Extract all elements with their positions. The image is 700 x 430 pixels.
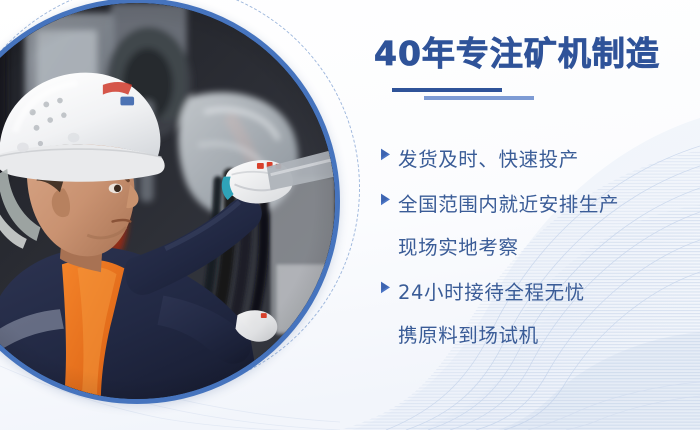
worker-photo-inner <box>0 3 335 399</box>
divider-line-light <box>424 96 534 100</box>
list-item: 发货及时、快速投产 <box>372 138 700 181</box>
list-item-line: 现场实地考察 <box>398 226 700 269</box>
feature-list: 发货及时、快速投产 全国范围内就近安排生产 现场实地考察 <box>372 138 700 359</box>
list-item-line: 发货及时、快速投产 <box>398 138 700 181</box>
list-item-text: 全国范围内就近安排生产 现场实地考察 <box>398 183 700 269</box>
promo-banner: 40年专注矿机制造 发货及时、快速投产 <box>0 0 700 430</box>
play-arrow-icon <box>372 183 398 207</box>
list-item-line: 全国范围内就近安排生产 <box>398 183 700 226</box>
list-item: 全国范围内就近安排生产 现场实地考察 <box>372 183 700 269</box>
banner-content: 40年专注矿机制造 发货及时、快速投产 <box>372 0 700 430</box>
headline-divider <box>392 88 572 104</box>
headline: 40年专注矿机制造 <box>374 27 660 75</box>
list-item: 24小时接待全程无忧 携原料到场试机 <box>372 271 700 357</box>
list-item-line: 24小时接待全程无忧 <box>398 271 700 314</box>
list-item-line: 携原料到场试机 <box>398 314 700 357</box>
play-arrow-icon <box>372 271 398 295</box>
list-item-text: 24小时接待全程无忧 携原料到场试机 <box>398 271 700 357</box>
divider-line-dark <box>392 88 502 92</box>
play-arrow-icon <box>372 138 398 162</box>
list-item-text: 发货及时、快速投产 <box>398 138 700 181</box>
